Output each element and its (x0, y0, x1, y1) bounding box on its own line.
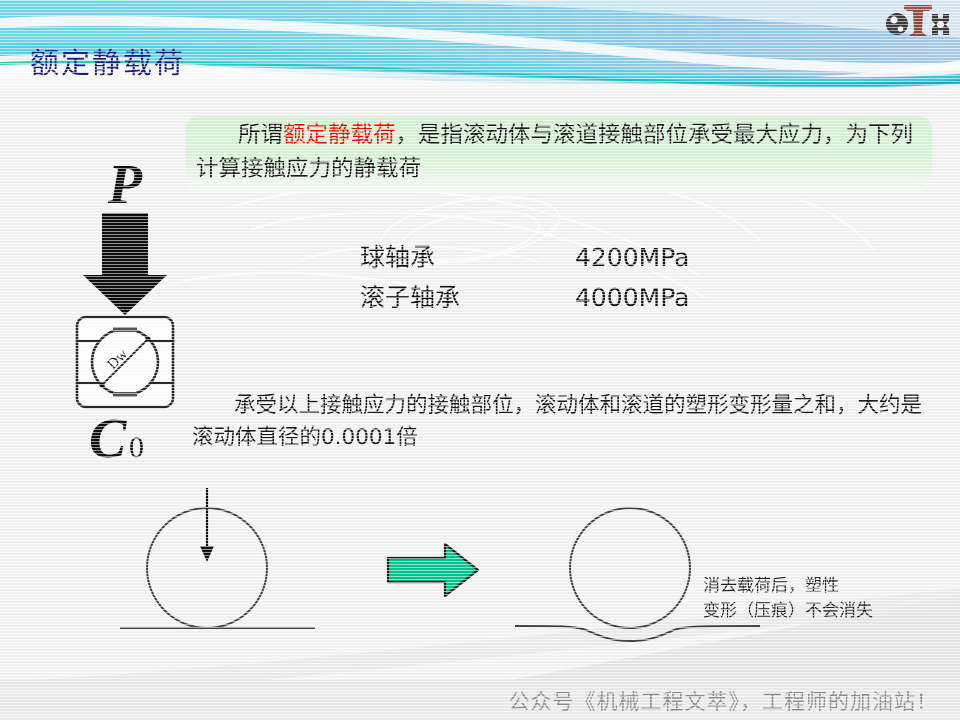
slide-footer: 公众号《机械工程文萃》，工程师的加油站！ (0, 680, 960, 720)
bearing-stress-value: 4200MPa (575, 238, 689, 278)
stress-value-table: 球轴承 4200MPa 滚子轴承 4000MPa (360, 238, 780, 318)
callout-lead: 所谓 (238, 122, 283, 148)
caption-line-2: 变形（压痕）不会消失 (703, 599, 873, 624)
slide: 额定静载荷 (0, 0, 960, 720)
load-bearing-diagram: P Dw C 0 (45, 145, 215, 465)
body-paragraph: 承受以上接触应力的接触部位，滚动体和滚道的塑形变形量之和，大约是滚动体直径的0.… (192, 390, 922, 454)
transition-arrow-icon (388, 544, 478, 596)
slide-body: 所谓额定静载荷，是指滚动体与滚道接触部位承受最大应力，为下列计算接触应力的静载荷… (0, 90, 960, 720)
static-rating-label: C (89, 408, 127, 465)
applied-load-arrow-head (200, 546, 214, 562)
table-row: 滚子轴承 4000MPa (360, 278, 780, 318)
footer-text: 公众号《机械工程文萃》，工程师的加油站！ (509, 686, 939, 716)
mechanical-engineering-logo-icon (882, 2, 952, 50)
ball-after (570, 508, 690, 628)
bearing-stress-value: 4000MPa (575, 278, 689, 318)
bearing-type-label: 滚子轴承 (360, 278, 575, 318)
slide-header: 额定静载荷 (0, 0, 960, 90)
callout-text: 所谓额定静载荷，是指滚动体与滚道接触部位承受最大应力，为下列计算接触应力的静载荷 (196, 118, 916, 186)
callout-highlight: 额定静载荷 (283, 122, 396, 148)
caption-line-1: 消去载荷后，塑性 (703, 574, 873, 599)
load-arrow-icon (83, 213, 167, 315)
load-label: P (107, 154, 143, 216)
deformation-caption: 消去载荷后，塑性 变形（压痕）不会消失 (703, 574, 873, 624)
static-rating-subscript: 0 (129, 431, 144, 464)
bearing-type-label: 球轴承 (360, 238, 575, 278)
page-title: 额定静载荷 (30, 40, 185, 82)
table-row: 球轴承 4200MPa (360, 238, 780, 278)
